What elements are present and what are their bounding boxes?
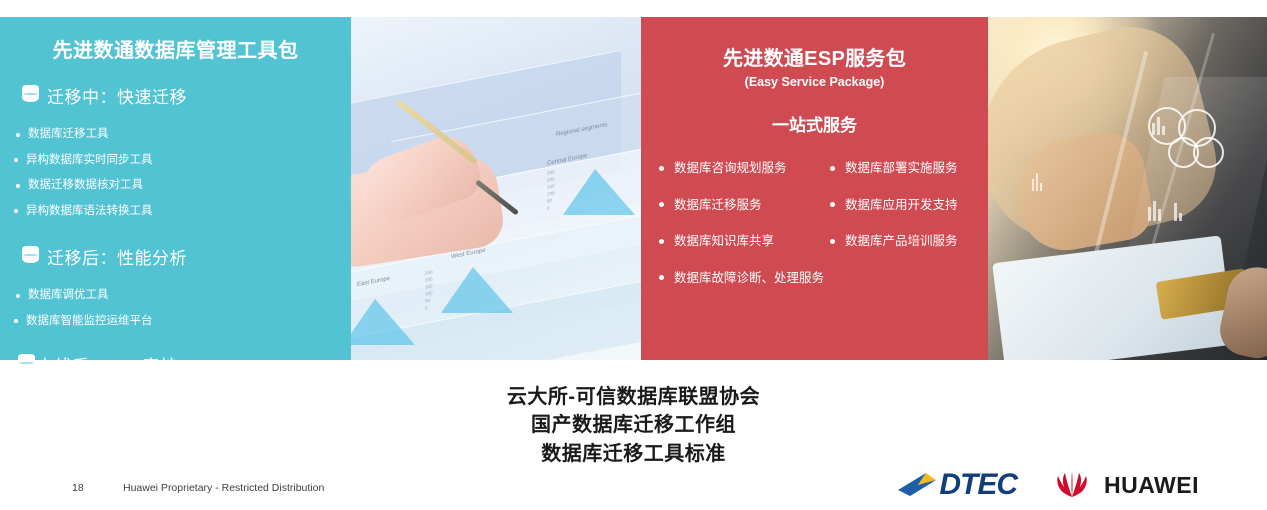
list-item: 异构数据库语法转换工具	[14, 199, 186, 225]
dtec-wordmark: DTEC	[939, 468, 1017, 502]
list-item: 数据库产品培训服务	[830, 223, 972, 260]
left-section-2-list: 数据库调优工具 数据库智能监控运维平台	[0, 283, 351, 334]
list-item-label: 数据库智能监控运维平台	[26, 316, 153, 328]
bullet-dot-icon	[830, 202, 835, 207]
footer-confidentiality-note: Huawei Proprietary - Restricted Distribu…	[123, 482, 324, 494]
list-item-label: 数据库迁移服务	[674, 199, 762, 212]
huawei-logo: HUAWEI	[1051, 470, 1199, 500]
bullet-dot-icon	[830, 166, 835, 171]
right-panel-title: 先进数通ESP服务包	[641, 17, 988, 71]
right-panel-tagline: 一站式服务	[641, 111, 988, 136]
left-section-3-label: 上线后：SQL审核	[37, 352, 178, 377]
dtec-logo: DTEC	[896, 468, 1017, 502]
bullet-dot-icon	[16, 294, 20, 298]
left-section-heading-sql-audit: 上线后：SQL审核	[0, 352, 351, 377]
caption-line-1: 云大所-可信数据库联盟协会	[0, 383, 1267, 411]
caption-line-2: 国产数据库迁移工作组	[0, 411, 1267, 439]
huawei-flower-icon	[1051, 470, 1093, 500]
list-item-label: 数据库故障诊断、处理服务	[674, 272, 824, 285]
right-red-panel: 先进数通ESP服务包 (Easy Service Package) 一站式服务 …	[641, 17, 988, 360]
tablet-touch-hologram-photo	[988, 17, 1267, 360]
right-panel-subtitle: (Easy Service Package)	[641, 75, 988, 89]
bullet-dot-icon	[659, 275, 664, 280]
list-item-label: 数据库知识库共享	[674, 235, 774, 248]
list-item-label: 数据库迁移工具	[28, 129, 109, 141]
footer-logos: DTEC HUAWEI	[896, 468, 1199, 502]
bullet-dot-icon	[14, 158, 18, 162]
right-panel-list: 数据库咨询规划服务 数据库部署实施服务 数据库迁移服务 数据库应用开发支持 数据…	[641, 150, 988, 296]
list-item: 数据库迁移服务	[655, 187, 830, 224]
list-item-label: 数据库咨询规划服务	[674, 162, 787, 175]
list-item: 数据库调优工具	[14, 283, 179, 309]
list-item: 数据库应用开发支持	[830, 187, 972, 224]
list-item-label: 数据库产品培训服务	[845, 235, 958, 248]
list-item-label: 数据迁移数据核对工具	[28, 180, 143, 192]
left-panel-title: 先进数通数据库管理工具包	[0, 17, 351, 63]
left-section-heading-migration: 迁移中：快速迁移	[0, 83, 351, 108]
bullet-dot-icon	[16, 133, 20, 137]
caption-line-3: 数据库迁移工具标准	[0, 440, 1267, 468]
list-item: 异构数据库实时同步工具	[14, 148, 186, 174]
photo-chart-ticks: 250200150100500	[425, 268, 433, 311]
bullet-dot-icon	[659, 202, 664, 207]
bullet-dot-icon	[14, 319, 18, 323]
bullet-dot-icon	[14, 209, 18, 213]
hand-writing-analytics-photo: Regional segments Central Europe West Eu…	[351, 17, 641, 360]
photo-chart-ticks: 250200150100500	[547, 168, 555, 211]
list-item: 数据库知识库共享	[655, 223, 830, 260]
list-item-label: 异构数据库实时同步工具	[26, 155, 153, 167]
list-item: 数据库咨询规划服务	[655, 150, 830, 187]
list-item-label: 数据库调优工具	[28, 290, 109, 302]
list-item-label: 数据库应用开发支持	[845, 199, 958, 212]
left-section-heading-performance: 迁移后：性能分析	[0, 244, 351, 269]
left-section-1-list: 数据库迁移工具 异构数据库实时同步工具 数据迁移数据核对工具 异构数据库语法转换…	[0, 122, 351, 224]
database-icon	[18, 354, 35, 375]
left-section-1-label: 迁移中：快速迁移	[47, 83, 187, 108]
huawei-wordmark: HUAWEI	[1104, 472, 1199, 499]
list-item: 数据库故障诊断、处理服务	[655, 260, 976, 297]
page-number: 18	[72, 482, 84, 494]
slide-banner: 先进数通数据库管理工具包 迁移中：快速迁移 数据库迁移工具 异构数据库实时同步工…	[0, 17, 1267, 360]
list-item: 数据库部署实施服务	[830, 150, 972, 187]
slide-caption: 云大所-可信数据库联盟协会 国产数据库迁移工作组 数据库迁移工具标准	[0, 383, 1267, 468]
database-icon	[22, 85, 39, 106]
list-item-label: 异构数据库语法转换工具	[26, 206, 153, 218]
bullet-dot-icon	[659, 166, 664, 171]
list-item: 数据迁移数据核对工具	[14, 173, 179, 199]
bullet-dot-icon	[830, 239, 835, 244]
left-teal-panel: 先进数通数据库管理工具包 迁移中：快速迁移 数据库迁移工具 异构数据库实时同步工…	[0, 17, 351, 360]
dtec-arrow-icon	[896, 470, 942, 500]
list-item: 数据库迁移工具	[14, 122, 179, 148]
database-icon	[22, 246, 39, 267]
bullet-dot-icon	[659, 239, 664, 244]
list-item: 数据库智能监控运维平台	[14, 309, 186, 335]
list-item-label: 数据库部署实施服务	[845, 162, 958, 175]
left-section-2-label: 迁移后：性能分析	[47, 244, 187, 269]
bullet-dot-icon	[16, 184, 20, 188]
